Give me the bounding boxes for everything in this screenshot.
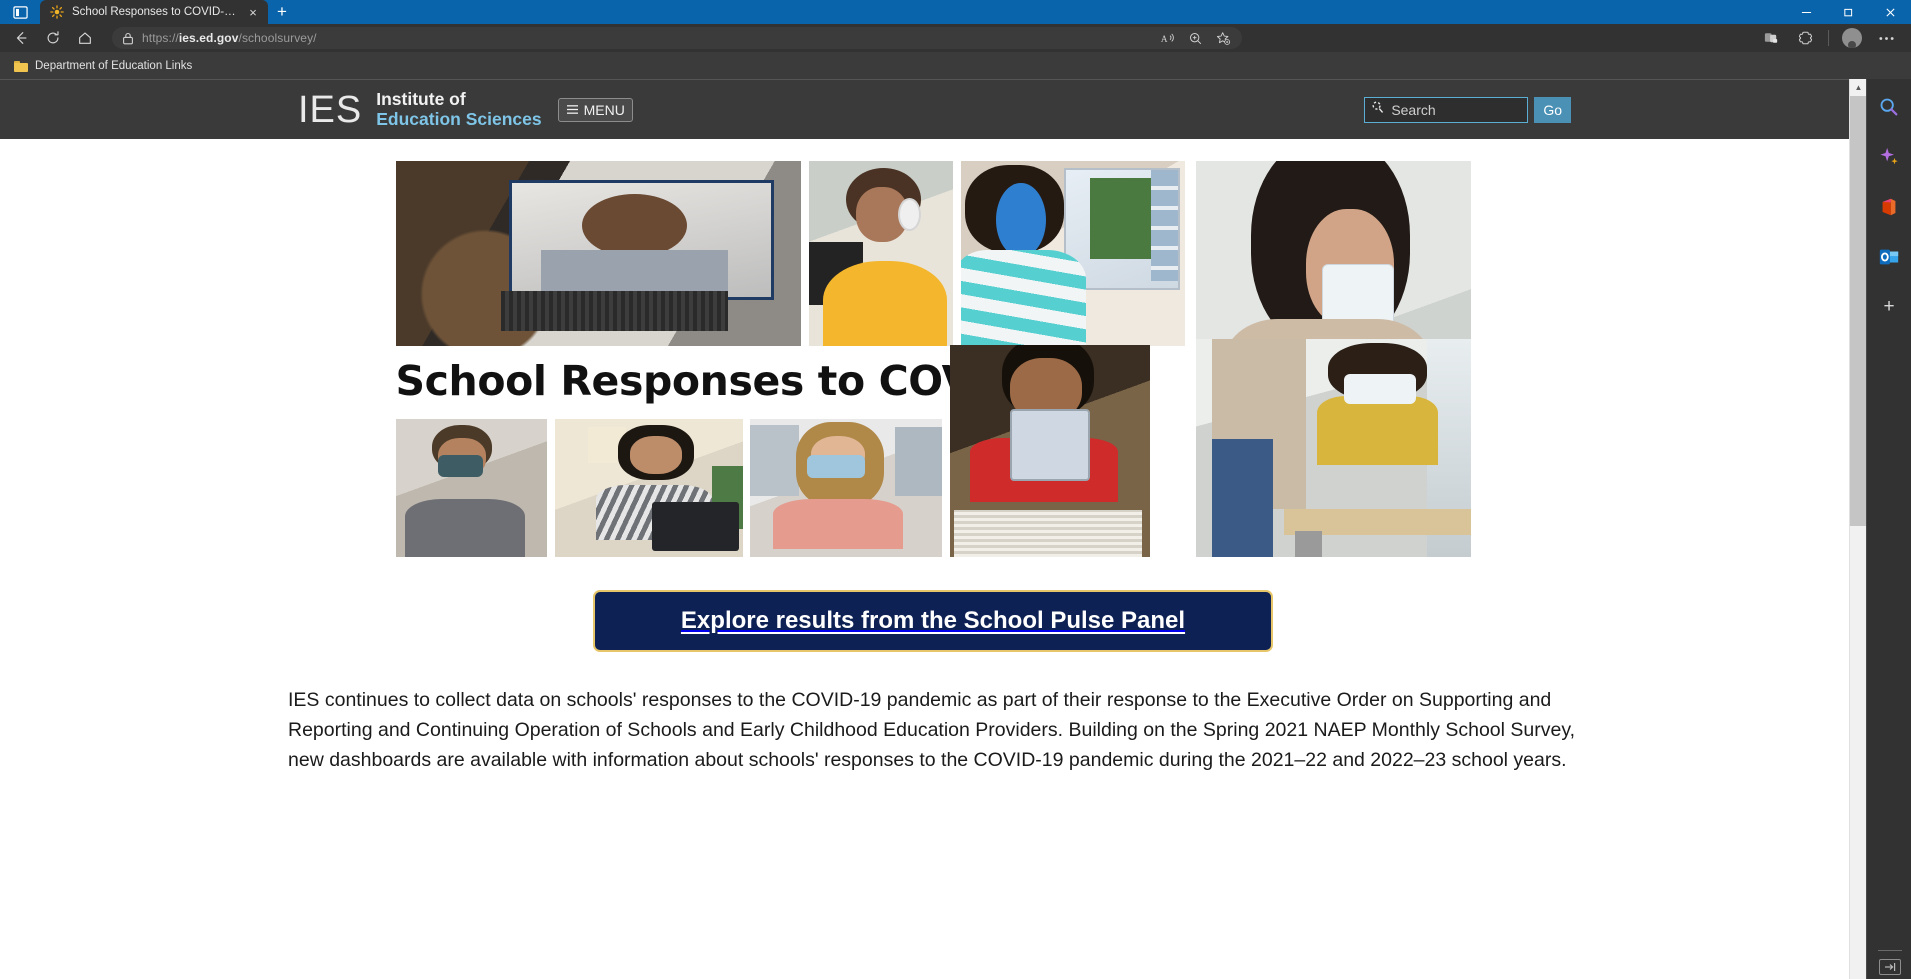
bookmarks-bar: Department of Education Links [0, 52, 1911, 79]
copilot-sparkle-icon[interactable] [1875, 143, 1903, 171]
bookmark-label: Department of Education Links [35, 60, 192, 72]
site-header: IES Institute of Education Sciences MENU [0, 79, 1866, 139]
browser-tab[interactable]: School Responses to COVID-19 × [40, 0, 268, 24]
sun-burst-favicon [50, 5, 64, 19]
hamburger-icon [566, 102, 579, 118]
site-search: Search Go [1364, 97, 1571, 123]
tab-actions-icon[interactable] [0, 0, 40, 24]
sidebar-bottom [1867, 950, 1911, 975]
read-aloud-icon[interactable]: A [1154, 27, 1180, 49]
photo-girl-headphones-laptop [809, 161, 953, 346]
title-bar: School Responses to COVID-19 × + [0, 0, 1911, 24]
add-sidebar-icon[interactable]: + [1875, 293, 1903, 321]
refresh-icon[interactable] [38, 26, 68, 50]
menu-button[interactable]: MENU [558, 98, 633, 122]
search-input[interactable]: Search [1364, 97, 1528, 123]
cta-label: Explore results from the School Pulse Pa… [681, 607, 1185, 635]
scroll-up-arrow[interactable]: ▲ [1850, 79, 1867, 96]
search-icon[interactable] [1875, 93, 1903, 121]
ies-name-line2: Education Sciences [376, 110, 541, 130]
ies-full-name: Institute of Education Sciences [376, 90, 541, 129]
search-go-button[interactable]: Go [1534, 97, 1571, 123]
intro-paragraph: IES continues to collect data on schools… [288, 686, 1578, 775]
scrollbar-thumb[interactable] [1850, 96, 1867, 526]
page-viewport: IES Institute of Education Sciences MENU [0, 79, 1866, 979]
bookmark-department-of-education-links[interactable]: Department of Education Links [8, 58, 198, 74]
photo-masked-boy-writing [396, 419, 547, 557]
cta-section: Explore results from the School Pulse Pa… [0, 590, 1866, 652]
close-tab-icon[interactable]: × [244, 6, 262, 19]
zoom-icon[interactable] [1182, 27, 1208, 49]
ies-logo[interactable]: IES Institute of Education Sciences [298, 90, 542, 129]
ies-acronym: IES [298, 91, 362, 129]
toolbar-divider [1828, 30, 1829, 46]
explore-school-pulse-panel-button[interactable]: Explore results from the School Pulse Pa… [593, 590, 1273, 652]
close-window-button[interactable] [1869, 0, 1911, 24]
profile-avatar[interactable] [1837, 26, 1867, 50]
hero-collage: School Responses to COVID-19 [396, 161, 1471, 557]
address-bar-url: https://ies.ed.gov/schoolsurvey/ [142, 31, 317, 45]
sidebar-divider [1878, 950, 1902, 951]
settings-more-icon[interactable] [1871, 26, 1901, 50]
lock-icon [122, 32, 134, 45]
window-controls [1785, 0, 1911, 24]
search-placeholder: Search [1391, 102, 1435, 118]
edge-sidebar: + [1866, 79, 1911, 979]
home-icon[interactable] [70, 26, 100, 50]
extensions-icon[interactable] [1790, 26, 1820, 50]
minimize-button[interactable] [1785, 0, 1827, 24]
sidebar-expand-icon[interactable] [1879, 959, 1901, 975]
photo-teacher-masked-student-desk [1196, 339, 1471, 557]
photo-boy-headphones-monitor [961, 161, 1185, 346]
ies-name-line1: Institute of [376, 90, 541, 110]
svg-text:A: A [1160, 33, 1167, 43]
photo-masked-girl-classroom [750, 419, 942, 557]
collections-icon[interactable] [1756, 26, 1786, 50]
browser-toolbar: https://ies.ed.gov/schoolsurvey/ A [0, 24, 1911, 52]
photo-student-video-call-teacher [396, 161, 801, 346]
add-favorite-icon[interactable] [1210, 27, 1236, 49]
address-bar-actions: A [1154, 27, 1236, 49]
tab-title: School Responses to COVID-19 [72, 6, 236, 18]
outlook-icon[interactable] [1875, 243, 1903, 271]
new-tab-button[interactable]: + [268, 0, 296, 24]
address-bar[interactable]: https://ies.ed.gov/schoolsurvey/ A [112, 27, 1242, 49]
magnifier-icon [1372, 101, 1384, 119]
photo-boy-phone-books [950, 345, 1150, 557]
browser-window: School Responses to COVID-19 × + [0, 0, 1911, 979]
hero-section: School Responses to COVID-19 [0, 139, 1866, 557]
menu-button-label: MENU [584, 102, 625, 118]
photo-girl-tablet-smiling [555, 419, 743, 557]
maximize-button[interactable] [1827, 0, 1869, 24]
folder-icon [14, 60, 28, 72]
page-scrollbar[interactable]: ▲ [1849, 79, 1866, 979]
back-icon[interactable] [6, 26, 36, 50]
office-icon[interactable] [1875, 193, 1903, 221]
toolbar-right-actions [1756, 26, 1905, 50]
